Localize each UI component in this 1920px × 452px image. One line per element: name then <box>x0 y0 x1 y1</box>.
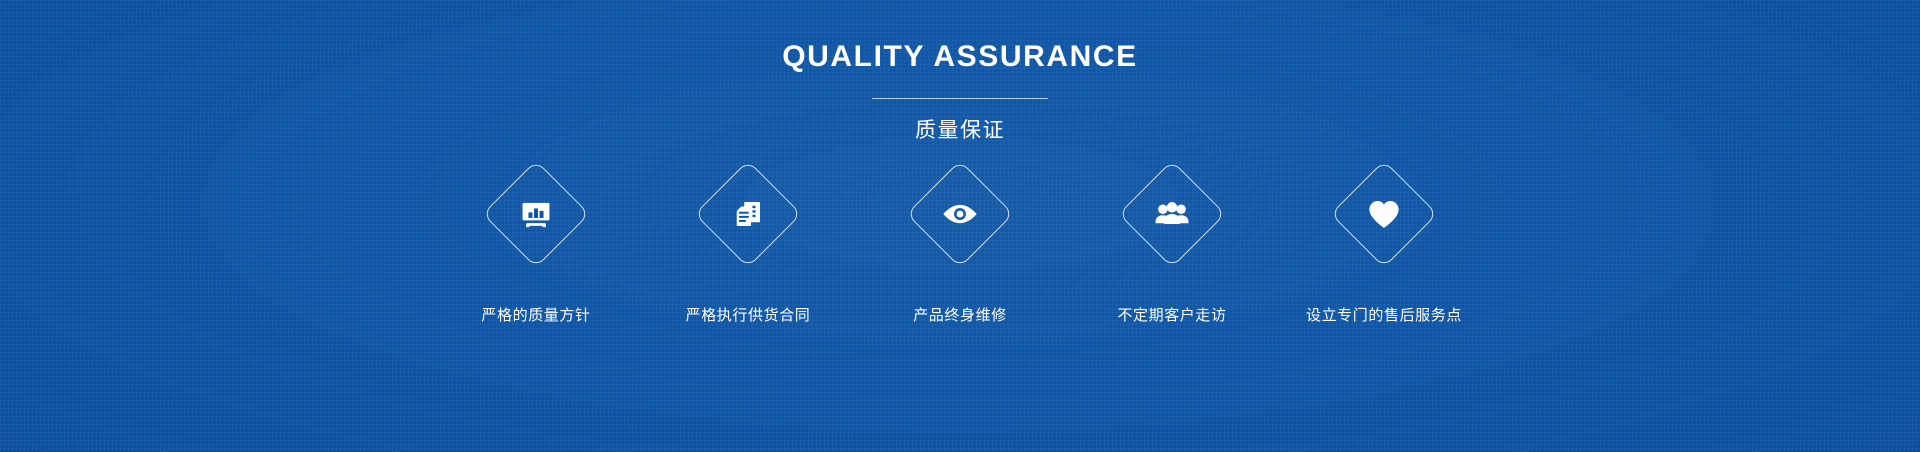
feature-item-quality-policy[interactable]: 严格的质量方针 <box>430 160 642 327</box>
quality-assurance-banner: QUALITY ASSURANCE 质量保证 <box>0 0 1920 452</box>
feature-item-label: 设立专门的售后服务点 <box>1306 305 1462 327</box>
feature-item-lifetime-repair[interactable]: 产品终身维修 <box>854 160 1066 327</box>
document-contract-icon <box>726 192 770 236</box>
feature-item-customer-visits[interactable]: 不定期客户走访 <box>1066 160 1278 327</box>
heading-block: QUALITY ASSURANCE 质量保证 <box>0 38 1920 145</box>
diamond-frame-1 <box>482 160 590 268</box>
feature-item-after-sales-points[interactable]: 设立专门的售后服务点 <box>1278 160 1490 327</box>
diamond-frame-4 <box>1118 160 1226 268</box>
feature-items-row: 严格的质量方针 <box>0 160 1920 327</box>
eye-icon <box>938 192 982 236</box>
divider-wrap <box>0 90 1920 108</box>
diamond-frame-2 <box>694 160 802 268</box>
diamond-frame-5 <box>1330 160 1438 268</box>
feature-item-supply-contract[interactable]: 严格执行供货合同 <box>642 160 854 327</box>
feature-item-label: 不定期客户走访 <box>1117 305 1226 327</box>
feature-item-label: 严格的质量方针 <box>481 305 590 327</box>
presentation-chart-icon <box>514 192 558 236</box>
page-subtitle: 质量保证 <box>0 117 1920 145</box>
heart-icon <box>1362 192 1406 236</box>
title-divider <box>872 98 1048 99</box>
users-group-icon <box>1150 192 1194 236</box>
feature-item-label: 严格执行供货合同 <box>686 305 811 327</box>
diamond-frame-3 <box>906 160 1014 268</box>
page-title: QUALITY ASSURANCE <box>0 38 1920 76</box>
feature-item-label: 产品终身维修 <box>913 305 1007 327</box>
